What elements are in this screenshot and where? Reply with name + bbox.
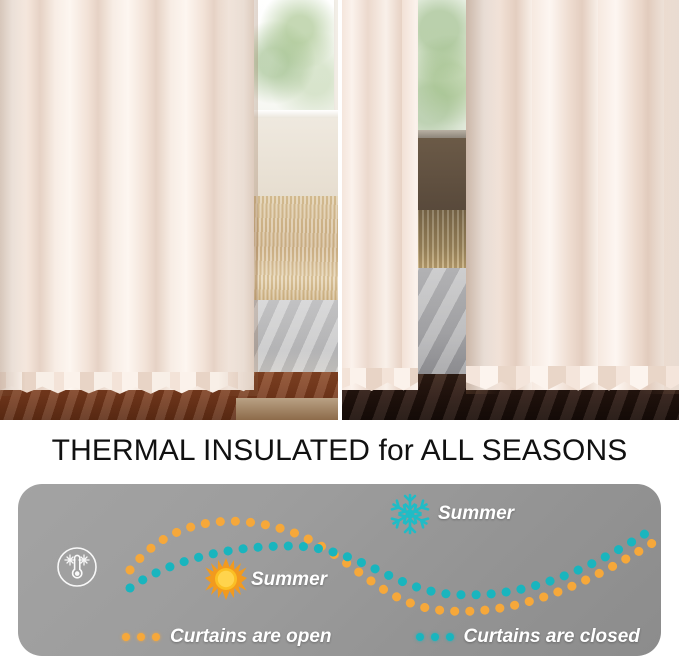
legend-item-curtains-open: Curtains are open [122, 626, 332, 648]
legend-swatch-closed-icon [416, 633, 454, 641]
curtain-panel-right-a [342, 0, 418, 390]
curtain-shadow-left-edge [0, 0, 26, 396]
snowflake-icon [388, 492, 432, 536]
window-header-right [414, 130, 470, 138]
chart-legend: Curtains are open Curtains are closed [18, 620, 661, 654]
label-summer-open: Summer [251, 569, 327, 591]
hallway-rug-right [412, 210, 472, 272]
curtain-edge-shadow-right [642, 0, 679, 394]
hallway-wall-right [414, 138, 470, 216]
photo-strip [0, 0, 679, 420]
photo-curtain-room-left [0, 0, 338, 420]
sun-icon [205, 558, 247, 600]
curtain-shadow-right-edge [218, 0, 258, 396]
area-rug-left [244, 196, 338, 306]
window-left [248, 0, 334, 112]
window-right [414, 0, 470, 132]
photo-curtain-room-right [342, 0, 679, 420]
curtain-shadow-right-b [466, 0, 500, 394]
legend-label-curtains-open: Curtains are open [170, 626, 332, 648]
product-infographic: THERMAL INSULATED for ALL SEASONS [0, 0, 679, 667]
legend-label-curtains-closed: Curtains are closed [464, 626, 640, 648]
label-summer-closed: Summer [438, 503, 514, 525]
legend-item-curtains-closed: Curtains are closed [416, 626, 640, 648]
thermometer-icon [56, 546, 98, 588]
headline-thermal-insulated: THERMAL INSULATED for ALL SEASONS [0, 432, 679, 470]
legend-swatch-open-icon [122, 633, 160, 641]
curtain-panel-left [0, 0, 254, 390]
wood-floor-left-far [236, 398, 338, 420]
